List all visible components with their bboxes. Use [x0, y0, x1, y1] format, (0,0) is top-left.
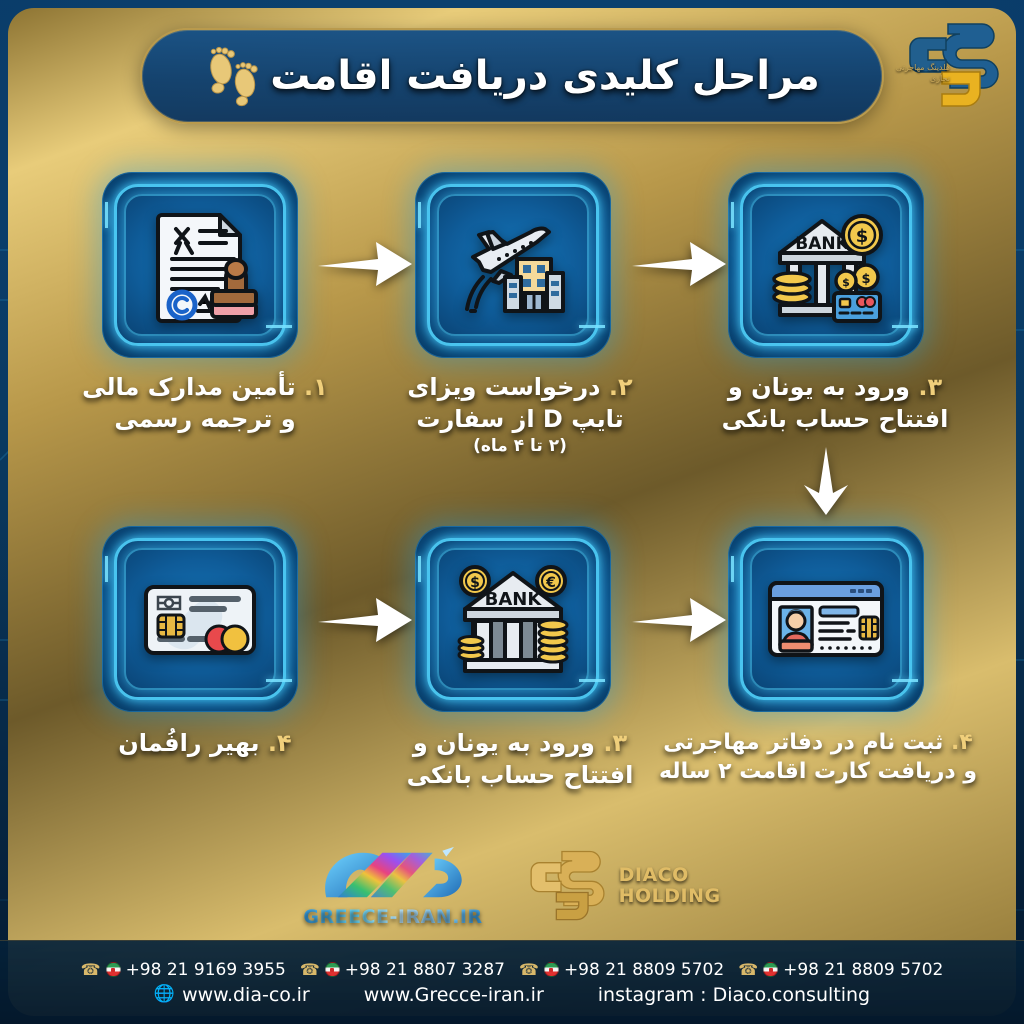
footer-contact-bar: ☎ +98 21 9169 3955 ☎ +98 21 8807 3287 ☎ … — [0, 940, 1024, 1024]
step-line-5a: ورود به یونان و — [413, 729, 595, 757]
step-number-6: ۴. — [268, 729, 292, 757]
residence-id-card-icon — [728, 526, 924, 712]
step-card-6[interactable] — [102, 526, 298, 712]
phone-number: +98 21 8809 5702 — [564, 960, 724, 980]
phone-number: +98 21 9169 3955 — [126, 960, 286, 980]
step-card-1[interactable] — [102, 172, 298, 358]
svg-text:BANK: BANK — [485, 589, 543, 610]
diaco-logo-line1: DIACO — [619, 865, 721, 886]
step-line-6a: بهیر رافُمان — [118, 729, 259, 757]
iran-flag-icon — [763, 962, 778, 977]
telephone-icon: ☎ — [81, 962, 101, 978]
phone-item[interactable]: ☎ +98 21 9169 3955 — [81, 960, 286, 980]
step-line-3a: ورود به یونان و — [728, 373, 910, 401]
website-item[interactable]: www.Grecce-iran.ir — [364, 984, 544, 1006]
document-stamp-icon — [102, 172, 298, 358]
infographic-canvas: مراحل کلیدی دریافت اقامت — [0, 0, 1024, 1024]
bank-currency-coins-icon: BANK $ € — [415, 526, 611, 712]
brand-logo-top-right: هلدینگ مهاجرتی تجاری — [884, 10, 1010, 122]
step-card-4[interactable] — [728, 526, 924, 712]
step-card-5[interactable]: BANK $ € — [415, 526, 611, 712]
phone-row: ☎ +98 21 9169 3955 ☎ +98 21 8807 3287 ☎ … — [81, 960, 944, 980]
step-number-3: ۳. — [918, 373, 942, 401]
telephone-icon: ☎ — [300, 962, 320, 978]
step-caption-3: ۳. ورود به یونان و افتتاح حساب بانکی — [685, 372, 985, 435]
airplane-building-icon — [415, 172, 611, 358]
step-line-2b: تایپ D از سفارت — [375, 404, 665, 436]
svg-text:$: $ — [470, 575, 480, 591]
phone-number: +98 21 8809 5702 — [783, 960, 943, 980]
step-number-4: ۴. — [951, 730, 973, 755]
phone-item[interactable]: ☎ +98 21 8809 5702 — [738, 960, 943, 980]
website-row: 🌐 www.dia-co.ir www.Grecce-iran.ir insta… — [154, 984, 870, 1006]
diaco-holding-logo[interactable]: DIACO HOLDING — [509, 844, 721, 928]
greece-iran-swirl-logo — [309, 845, 477, 905]
bank-coins-card-icon: BANK $ $ $ — [728, 172, 924, 358]
instagram-label: instagram : Diaco.consulting — [598, 984, 870, 1006]
svg-text:€: € — [545, 575, 556, 591]
step-number-5: ۳. — [603, 729, 627, 757]
step-note-2: (۲ تا ۴ ماه) — [375, 435, 665, 457]
step-card-3[interactable]: BANK $ $ $ — [728, 172, 924, 358]
website-url: www.dia-co.ir — [182, 984, 310, 1006]
arrow-step2-to-step3 — [630, 238, 730, 290]
step-line-4a: ثبت نام در دفاتر مهاجرتی — [663, 730, 943, 755]
step-caption-1: ۱. تأمین مدارک مالی و ترجمه رسمی — [60, 372, 350, 435]
phone-item[interactable]: ☎ +98 21 8807 3287 — [300, 960, 505, 980]
step-caption-4: ۴. ثبت نام در دفاتر مهاجرتی و دریافت کار… — [648, 728, 988, 786]
step-line-1b: و ترجمه رسمی — [60, 404, 350, 436]
step-line-4b: و دریافت کارت اقامت ۲ ساله — [648, 757, 988, 786]
step-number-1: ۱. — [304, 373, 328, 401]
phone-number: +98 21 8807 3287 — [345, 960, 505, 980]
phone-item[interactable]: ☎ +98 21 8809 5702 — [519, 960, 724, 980]
arrow-step1-to-step2 — [316, 238, 416, 290]
website-url: www.Grecce-iran.ir — [364, 984, 544, 1006]
iran-flag-icon — [106, 962, 121, 977]
brand-sub-label: هلدینگ مهاجرتی تجاری — [888, 62, 950, 84]
step-line-1a: تأمین مدارک مالی — [82, 373, 296, 401]
step-line-2a: درخواست ویزای — [407, 373, 600, 401]
step-line-3b: افتتاح حساب بانکی — [685, 404, 985, 436]
website-item[interactable]: 🌐 www.dia-co.ir — [154, 984, 310, 1006]
title-banner: مراحل کلیدی دریافت اقامت — [140, 28, 884, 124]
arrow-step5-to-step4 — [630, 594, 730, 646]
step-card-2[interactable] — [415, 172, 611, 358]
credit-card-icon — [102, 526, 298, 712]
arrow-step6-to-step5 — [316, 594, 416, 646]
telephone-icon: ☎ — [519, 962, 539, 978]
step-caption-2: ۲. درخواست ویزای تایپ D از سفارت (۲ تا ۴… — [375, 372, 665, 458]
glow-dot — [305, 620, 309, 624]
iran-flag-icon — [325, 962, 340, 977]
instagram-handle[interactable]: instagram : Diaco.consulting — [598, 984, 870, 1006]
telephone-icon: ☎ — [738, 962, 758, 978]
page-title: مراحل کلیدی دریافت اقامت — [270, 53, 820, 99]
step-caption-6: ۴. بهیر رافُمان — [80, 728, 330, 760]
globe-icon: 🌐 — [154, 986, 175, 1003]
footprints-icon — [204, 43, 260, 109]
diaco-monogram-logo — [509, 844, 613, 928]
step-line-5b: افتتاح حساب بانکی — [375, 760, 665, 792]
svg-text:$: $ — [861, 272, 870, 287]
svg-text:$: $ — [856, 226, 869, 247]
step-number-2: ۲. — [609, 373, 633, 401]
diaco-logo-line2: HOLDING — [619, 886, 721, 907]
svg-text:$: $ — [842, 276, 850, 289]
step-caption-5: ۳. ورود به یونان و افتتاح حساب بانکی — [375, 728, 665, 791]
footer-logos: DIACO HOLDING — [0, 838, 1024, 934]
greece-iran-logo[interactable]: GREECE-IRAN.IR — [303, 845, 482, 928]
arrow-step3-to-step4 — [800, 445, 852, 517]
greece-logo-label: GREECE-IRAN.IR — [303, 906, 482, 928]
iran-flag-icon — [544, 962, 559, 977]
